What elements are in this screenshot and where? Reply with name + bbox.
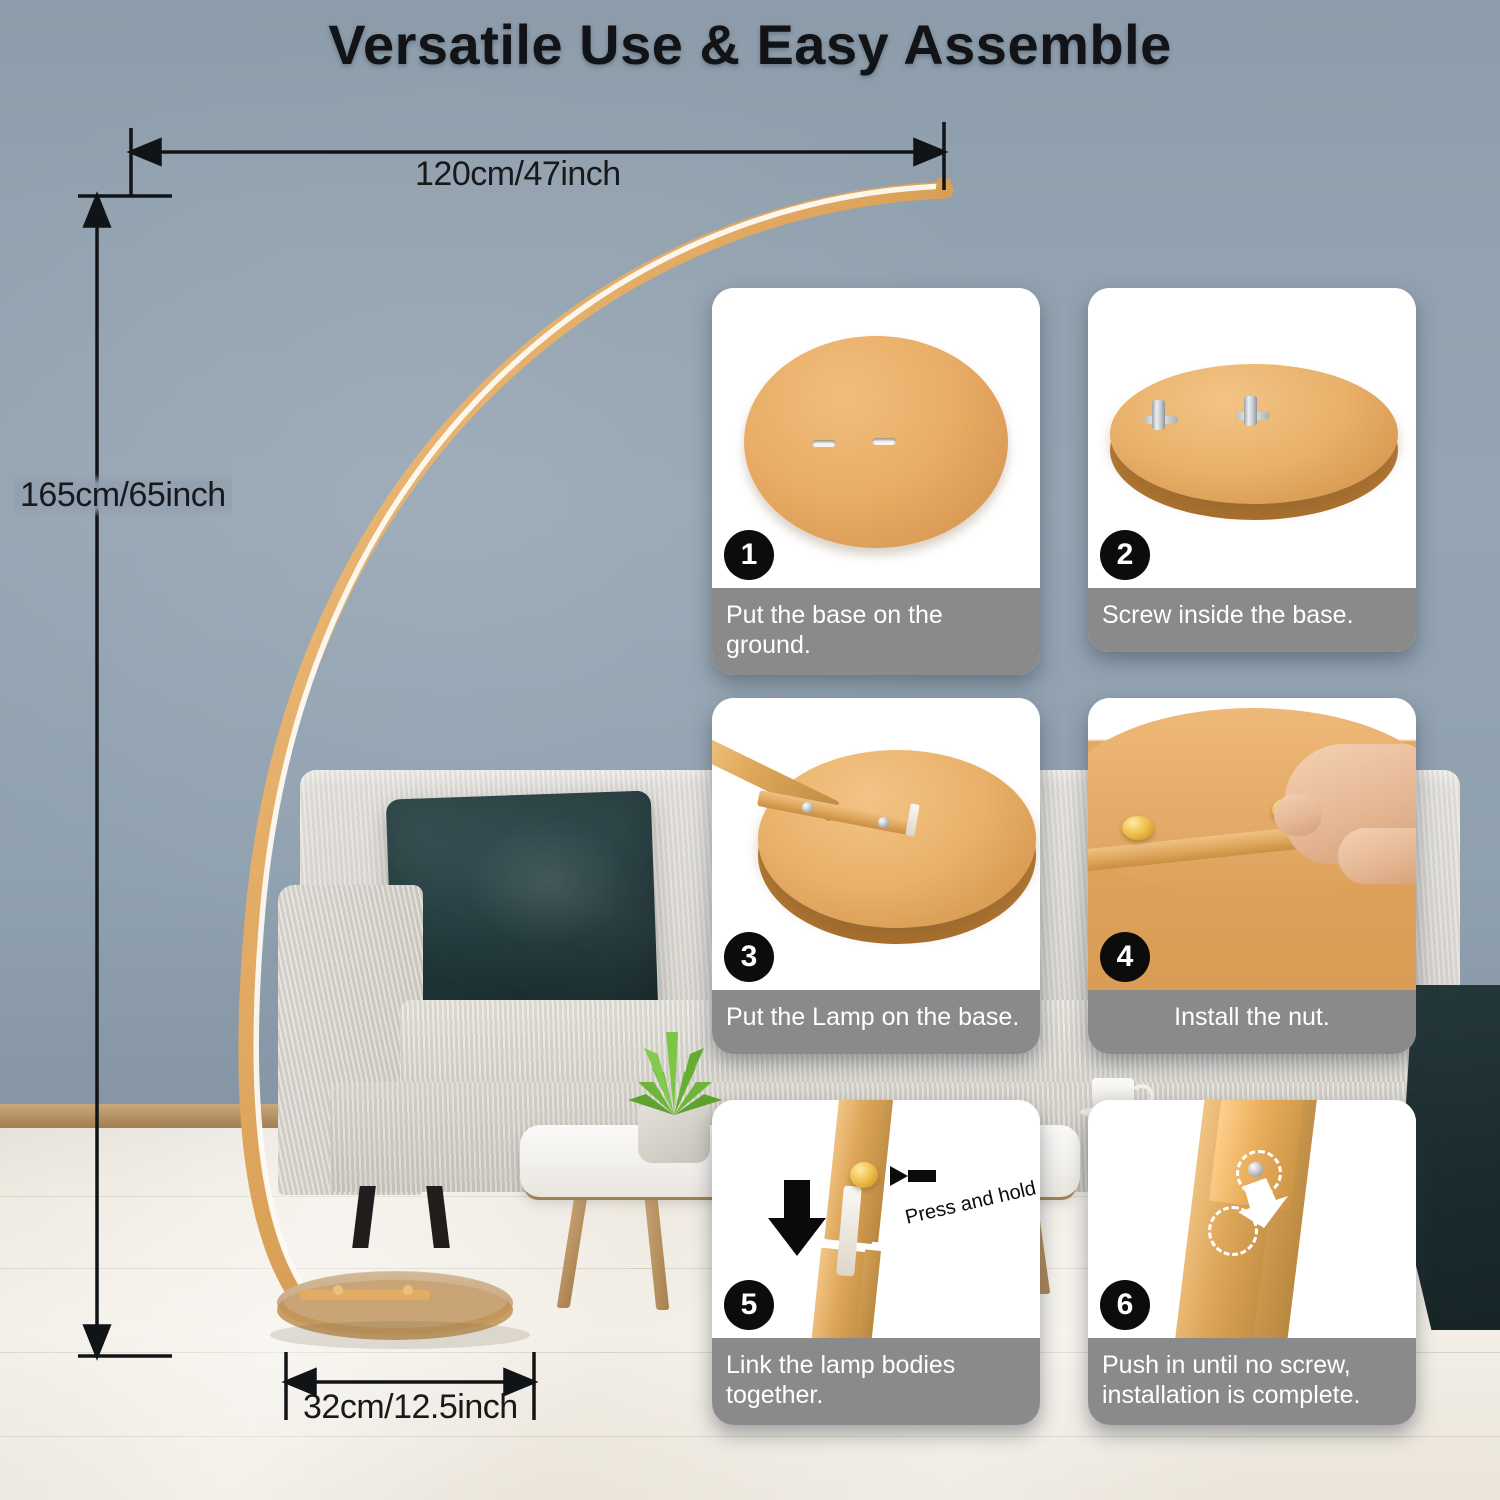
step-caption-5: Link the lamp bodies together. (712, 1338, 1040, 1425)
step-3-photo: 3 (712, 698, 1040, 990)
base-slot (872, 438, 896, 445)
step-caption-1: Put the base on the ground. (712, 588, 1040, 675)
step-card-2: 2 Screw inside the base. (1088, 288, 1416, 652)
push-arrow (1238, 1178, 1288, 1228)
base-slot (812, 440, 836, 447)
step-1-photo: 1 (712, 288, 1040, 588)
gold-nut (1122, 816, 1154, 840)
dim-width-arrow-left (131, 140, 160, 164)
down-arrow (768, 1180, 826, 1256)
step-card-4: 4 Install the nut. (1088, 698, 1416, 1054)
step-6-photo: 6 (1088, 1100, 1416, 1338)
step-caption-2: Screw inside the base. (1088, 588, 1416, 652)
dim-width-arrow-right (915, 140, 944, 164)
finger (1338, 828, 1416, 884)
dim-height-arrow-bottom (85, 1326, 109, 1356)
mount-screw (878, 817, 889, 828)
dim-height-arrow-top (85, 196, 109, 226)
step-2-photo: 2 (1088, 288, 1416, 588)
step-4-photo: 4 (1088, 698, 1416, 990)
dimension-base-label: 32cm/12.5inch (303, 1388, 518, 1427)
dimension-width-label: 120cm/47inch (415, 155, 621, 194)
step-number-badge-5: 5 (724, 1280, 774, 1330)
step-card-1: 1 Put the base on the ground. (712, 288, 1040, 675)
lamp-base-disc-tilted (1110, 364, 1398, 504)
step-caption-4: Install the nut. (1088, 990, 1416, 1054)
press-arrow-head (890, 1166, 908, 1186)
lamp-base-disc-tilted (758, 750, 1036, 928)
mount-screw (802, 802, 813, 813)
step-number-badge-4: 4 (1100, 932, 1150, 982)
step-5-photo: Press and hold 5 (712, 1100, 1040, 1338)
thumb (1274, 794, 1322, 836)
step-number-badge-2: 2 (1100, 530, 1150, 580)
step-number-badge-1: 1 (724, 530, 774, 580)
step-card-5: Press and hold 5 Link the lamp bodies to… (712, 1100, 1040, 1425)
step-caption-3: Put the Lamp on the base. (712, 990, 1040, 1054)
screw-post (1152, 400, 1165, 430)
page-title: Versatile Use & Easy Assemble (0, 12, 1500, 77)
press-arrow-shaft (908, 1170, 936, 1182)
step-card-6: 6 Push in until no screw, installation i… (1088, 1100, 1416, 1425)
step-card-3: 3 Put the Lamp on the base. (712, 698, 1040, 1054)
screw-post (1244, 396, 1257, 426)
step-number-badge-3: 3 (724, 932, 774, 982)
step-caption-6: Push in until no screw, installation is … (1088, 1338, 1416, 1425)
dimension-height-label: 165cm/65inch (14, 474, 232, 517)
step-number-badge-6: 6 (1100, 1280, 1150, 1330)
infographic-canvas: 120cm/47inch 165cm/65inch 32cm/12.5inch … (0, 0, 1500, 1500)
